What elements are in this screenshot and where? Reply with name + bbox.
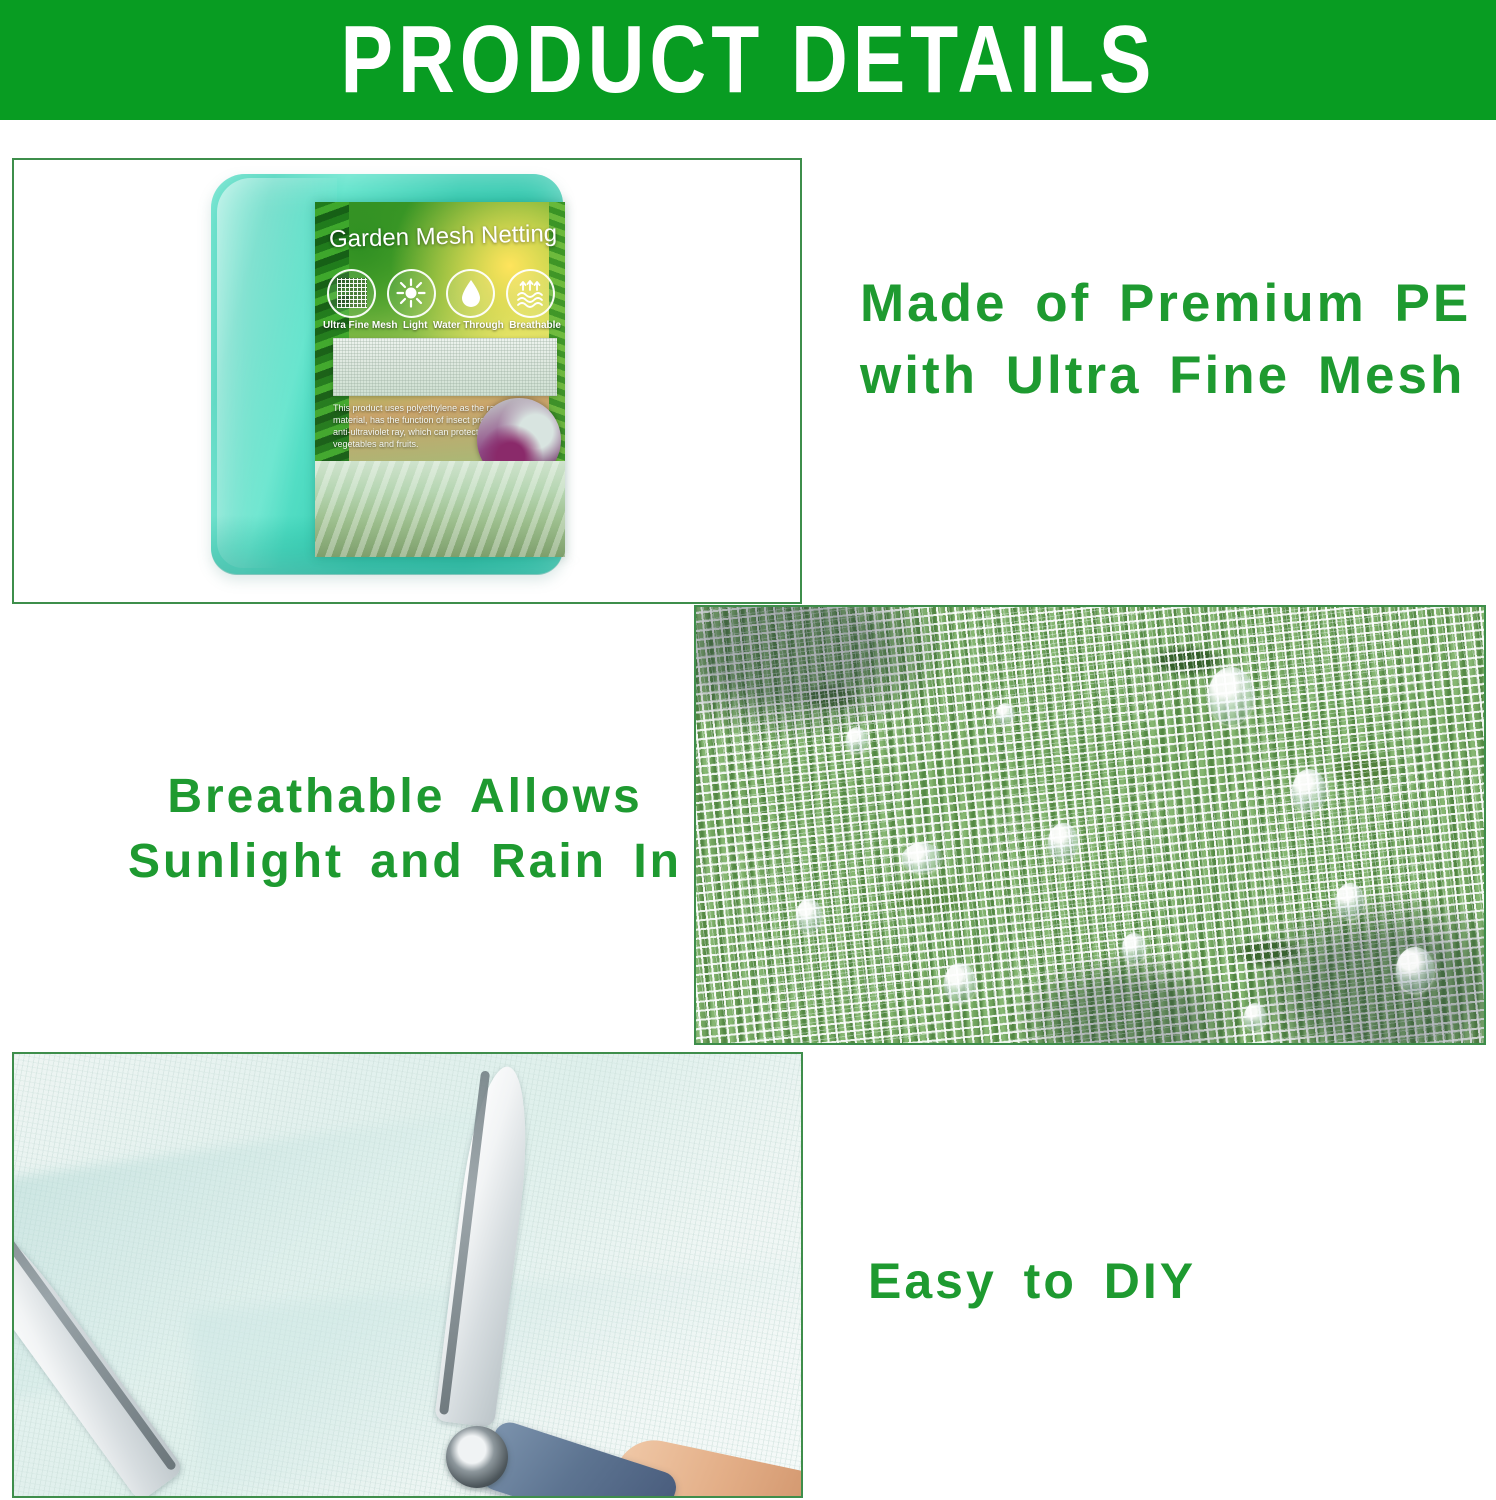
caption-premium-line-2: with Ultra Fine Mesh xyxy=(860,340,1460,412)
water-droplet xyxy=(1122,933,1146,963)
package-photo-panel: Garden Mesh Netting xyxy=(12,158,802,604)
mesh-droplets-photo xyxy=(696,607,1484,1043)
label-netting-photo xyxy=(333,338,557,396)
label-field-photo xyxy=(315,461,565,557)
caption-breathable-line-2: Sunlight and Rain In xyxy=(120,830,690,895)
water-droplet xyxy=(1396,947,1434,993)
water-droplet xyxy=(796,899,822,933)
water-drop-icon xyxy=(446,269,495,318)
water-droplet xyxy=(1292,769,1326,813)
caption-breathable: Breathable Allows Sunlight and Rain In xyxy=(120,765,690,895)
caption-breathable-line-1: Breathable Allows xyxy=(120,765,690,830)
water-droplet xyxy=(846,727,868,753)
mesh-shading-layer xyxy=(696,607,1484,1043)
breathable-arrows-icon xyxy=(506,269,555,318)
feature-label-mesh: Ultra Fine Mesh xyxy=(323,320,397,331)
caption-premium-line-1: Made of Premium PE xyxy=(860,268,1460,340)
page-title: PRODUCT DETAILS xyxy=(340,12,1156,108)
mesh-droplets-photo-panel xyxy=(694,605,1486,1045)
water-droplet xyxy=(902,843,942,873)
feature-label-light: Light xyxy=(403,320,427,331)
scissors-pivot-screw xyxy=(446,1426,508,1488)
water-droplet xyxy=(944,963,976,1003)
water-droplet xyxy=(996,703,1014,725)
sun-icon xyxy=(387,269,436,318)
scissors-photo-panel xyxy=(12,1052,803,1498)
caption-easy-diy: Easy to DIY xyxy=(868,1248,1388,1316)
water-droplet xyxy=(1336,883,1364,919)
feature-label-water: Water Through xyxy=(433,320,504,331)
water-droplet xyxy=(1244,1003,1266,1031)
page-header-banner: PRODUCT DETAILS xyxy=(0,0,1496,120)
package-label-card: Garden Mesh Netting xyxy=(315,202,565,557)
mesh-grid-icon xyxy=(327,269,376,318)
label-feature-icon-row xyxy=(327,264,555,322)
label-feature-captions: Ultra Fine Mesh Light Water Through Brea… xyxy=(323,320,561,331)
water-droplet xyxy=(1048,823,1078,861)
scissors-photo xyxy=(14,1054,801,1496)
product-details-page: PRODUCT DETAILS Garden Mesh Netting xyxy=(0,0,1496,1500)
water-droplet xyxy=(1208,667,1254,725)
feature-label-breathable: Breathable xyxy=(509,320,561,331)
caption-diy-line-1: Easy to DIY xyxy=(868,1248,1388,1316)
package-photo: Garden Mesh Netting xyxy=(14,160,800,602)
caption-premium-pe: Made of Premium PE with Ultra Fine Mesh xyxy=(860,268,1460,411)
